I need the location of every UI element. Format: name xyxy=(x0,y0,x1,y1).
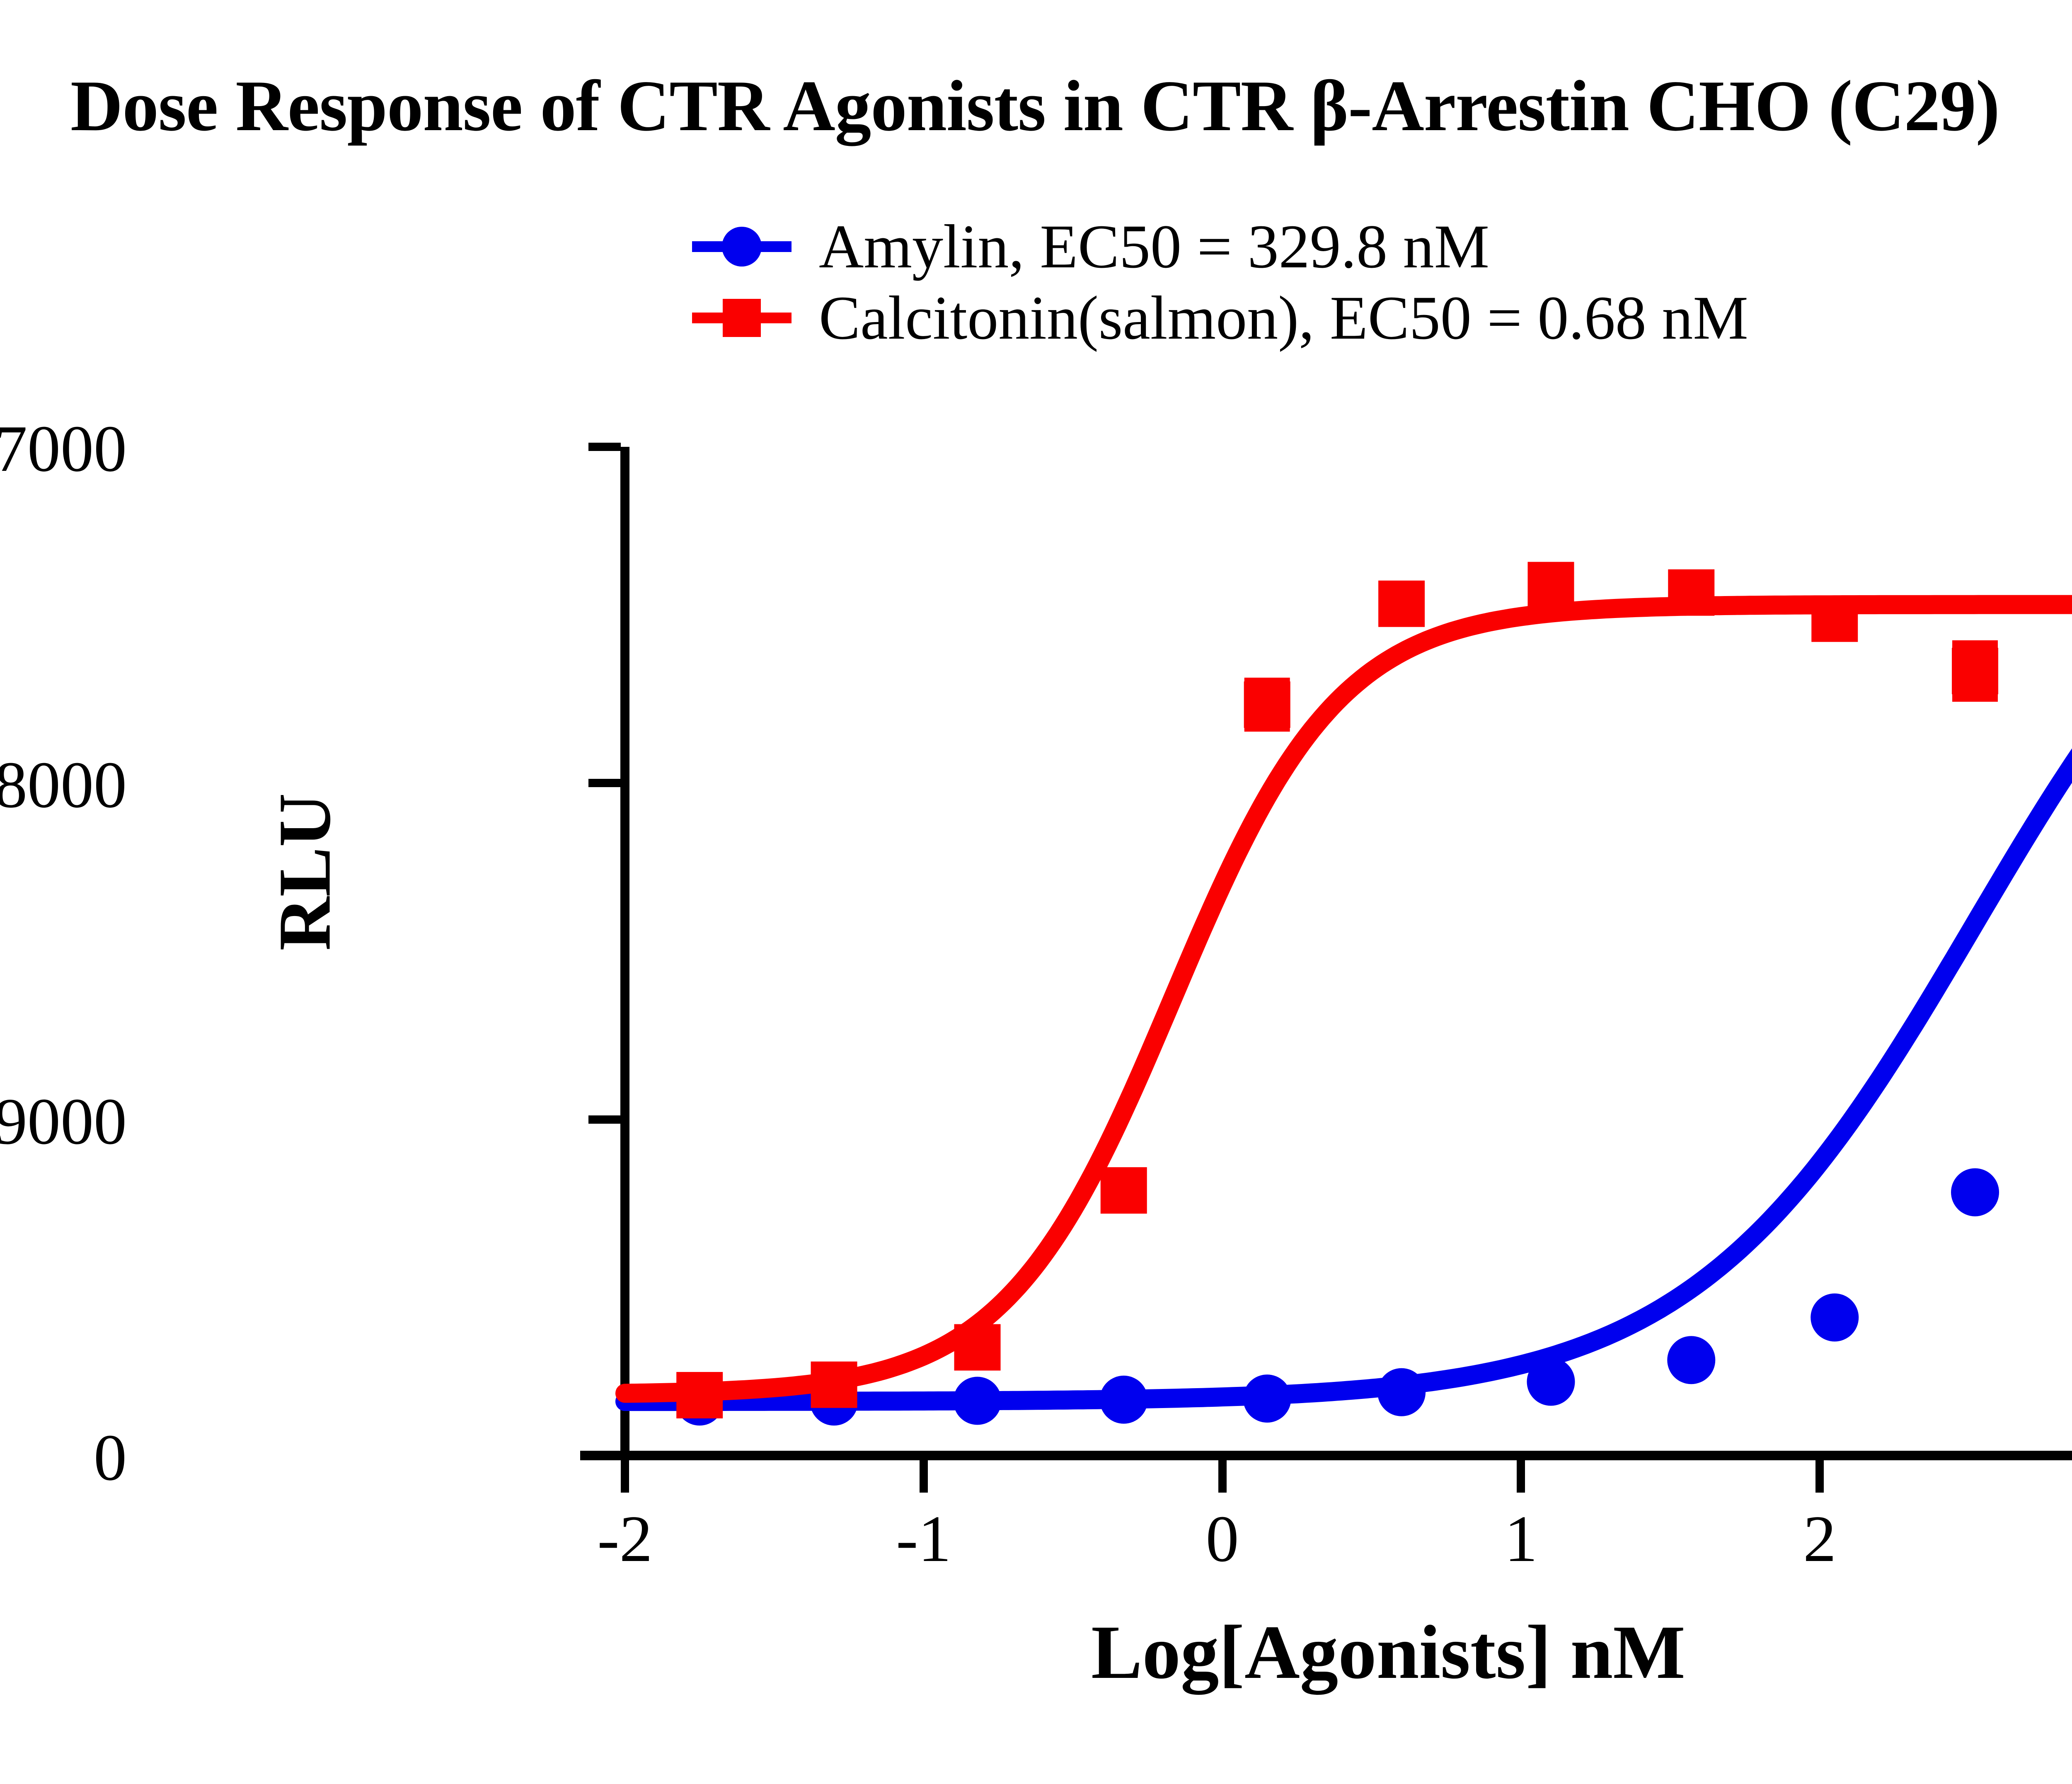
data-curves xyxy=(0,0,2072,1784)
data-point-circle[interactable] xyxy=(1667,1336,1715,1384)
data-point-square[interactable] xyxy=(1952,648,1998,694)
plot-area: 0 9000 18000 27000 -2 -1 0 1 2 3 RLU Log… xyxy=(0,0,2072,1784)
data-point-square[interactable] xyxy=(1101,1167,1147,1214)
data-point-square[interactable] xyxy=(1668,570,1714,616)
data-point-square[interactable] xyxy=(954,1324,1001,1371)
curve-calcitonin-salmon- xyxy=(625,604,2072,1393)
square-marker-icon xyxy=(723,299,761,337)
data-point-circle[interactable] xyxy=(1243,1374,1291,1423)
data-point-circle[interactable] xyxy=(1811,1293,1859,1341)
data-point-square[interactable] xyxy=(1244,681,1290,728)
data-point-circle[interactable] xyxy=(1377,1368,1426,1416)
data-point-square[interactable] xyxy=(1378,581,1425,627)
circle-marker-icon xyxy=(722,227,762,267)
data-point-square[interactable] xyxy=(1811,596,1858,642)
data-point-circle[interactable] xyxy=(1951,1168,1999,1216)
data-point-circle[interactable] xyxy=(954,1377,1002,1425)
data-point-square[interactable] xyxy=(811,1362,857,1408)
data-point-square[interactable] xyxy=(1527,562,1574,608)
data-point-circle[interactable] xyxy=(1100,1376,1148,1424)
data-point-square[interactable] xyxy=(676,1372,723,1418)
data-point-circle[interactable] xyxy=(1527,1358,1575,1406)
figure-root: Dose Response of CTR Agonists in CTR β-A… xyxy=(0,0,2072,1784)
curve-amylin xyxy=(625,700,2072,1401)
